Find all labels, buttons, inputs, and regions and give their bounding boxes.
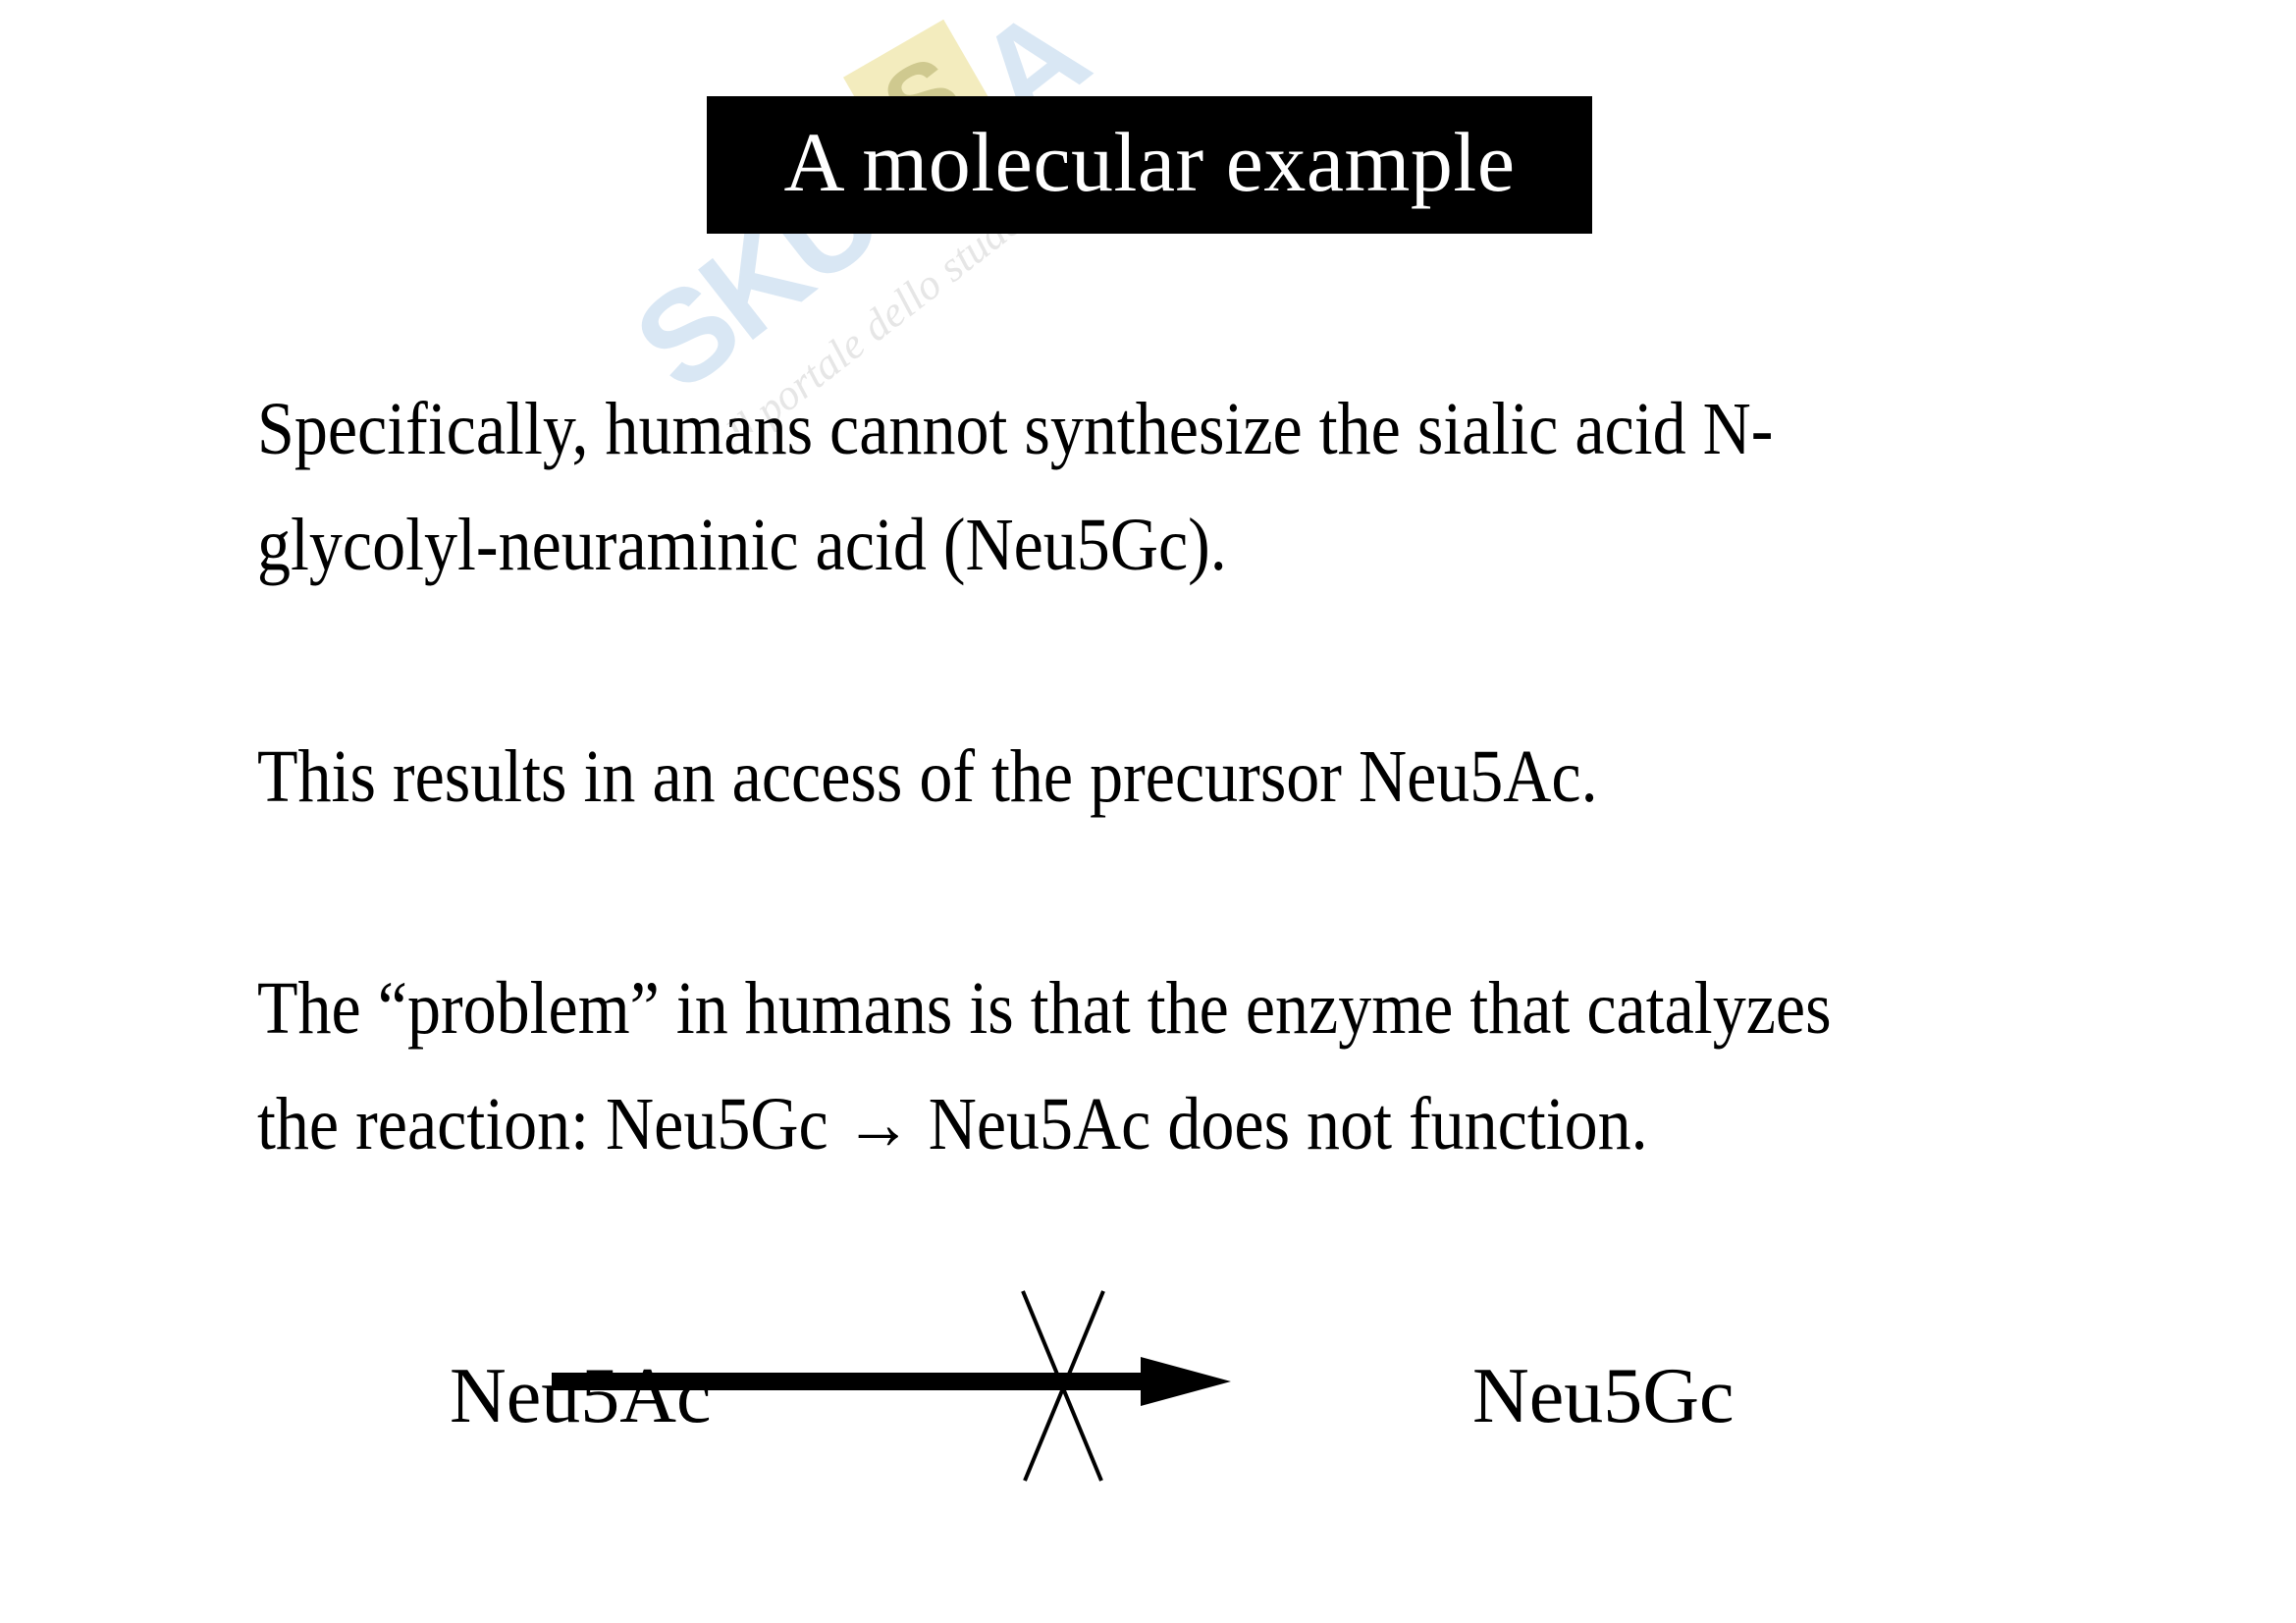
arrow-head xyxy=(1141,1357,1231,1406)
page-title: A molecular example xyxy=(784,120,1516,210)
body-paragraph-2: This results in an access of the precurs… xyxy=(257,719,1847,835)
body-paragraph-3: The “problem” in humans is that the enzy… xyxy=(257,950,1847,1182)
body-paragraph-1: Specifically, humans cannot synthesize t… xyxy=(257,371,1847,603)
slide-title-box: A molecular example xyxy=(707,96,1592,234)
slide-canvas: SKUOLA S Il portale dello studente A mol… xyxy=(0,0,2296,1623)
reaction-arrow-graphic xyxy=(257,1267,2034,1522)
reaction-diagram: Neu5Ac Neu5Gc xyxy=(257,1267,2034,1522)
slide-body: Specifically, humans cannot synthesize t… xyxy=(257,371,2034,1182)
